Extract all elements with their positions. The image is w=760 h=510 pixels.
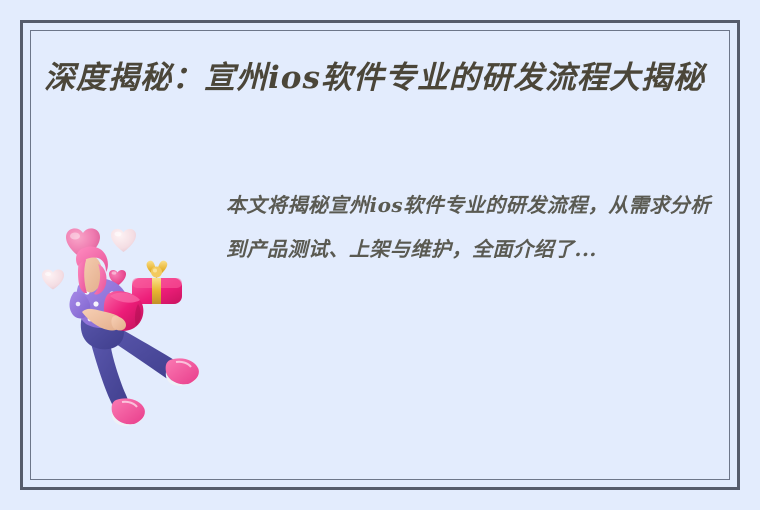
article-card: 深度揭秘：宣州ios软件专业的研发流程大揭秘 本文将揭秘宣州ios软件专业的研发… — [0, 0, 760, 510]
shoe-left-icon — [112, 398, 145, 425]
page-title: 深度揭秘：宣州ios软件专业的研发流程大揭秘 — [44, 55, 734, 101]
hero-illustration — [38, 212, 224, 428]
heart-pale-left-icon — [42, 269, 64, 289]
shoe-right-icon — [166, 358, 199, 385]
gift-box-small-icon — [132, 261, 182, 304]
person-figure — [70, 247, 200, 426]
article-summary: 本文将揭秘宣州ios软件专业的研发流程，从需求分析到产品测试、上架与维护，全面介… — [226, 183, 720, 271]
heart-pale-icon — [111, 229, 136, 252]
